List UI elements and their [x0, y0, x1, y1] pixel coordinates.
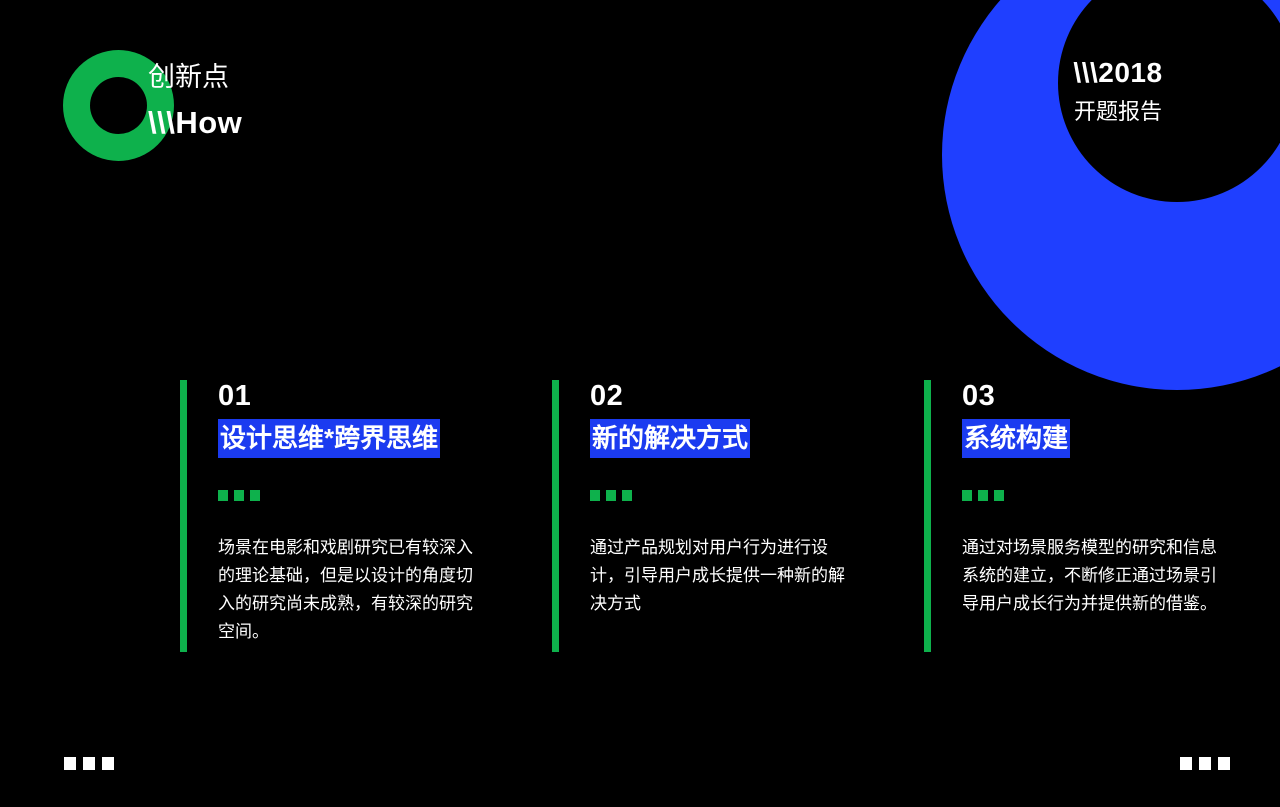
- header-subtitle: 开题报告: [1028, 96, 1208, 128]
- column-body-text: 通过产品规划对用户行为进行设计，引导用户成长提供一种新的解决方式: [590, 534, 858, 618]
- logo-text-block: 创新点 \\\How: [148, 60, 242, 142]
- square-dot-icon: [250, 490, 260, 501]
- bottom-right-dot-group: [1180, 757, 1230, 770]
- square-dot-icon: [978, 490, 988, 501]
- header-year: \\\2018: [1028, 56, 1208, 90]
- column-title-wrap: 设计思维*跨界思维: [218, 419, 440, 458]
- square-dot-icon: [622, 490, 632, 501]
- square-dot-icon: [590, 490, 600, 501]
- column-accent-bar: [552, 380, 559, 652]
- square-dot-icon: [218, 490, 228, 501]
- column-03: 03 系统构建 通过对场景服务模型的研究和信息系统的建立，不断修正通过场景引导用…: [924, 380, 1240, 646]
- logo-title-en: \\\How: [148, 104, 242, 142]
- column-title: 系统构建: [962, 419, 1070, 458]
- column-body-text: 场景在电影和戏剧研究已有较深入的理论基础，但是以设计的角度切入的研究尚未成熟，有…: [218, 534, 486, 646]
- square-dot-icon: [606, 490, 616, 501]
- square-dot-icon: [1180, 757, 1192, 770]
- square-dot-icon: [102, 757, 114, 770]
- square-dot-icon: [64, 757, 76, 770]
- header-block: \\\2018 开题报告: [1028, 56, 1208, 128]
- column-dot-group: [218, 490, 552, 501]
- logo-title-cn: 创新点: [148, 60, 242, 94]
- square-dot-icon: [234, 490, 244, 501]
- green-donut-hole: [90, 77, 147, 134]
- columns-container: 01 设计思维*跨界思维 场景在电影和戏剧研究已有较深入的理论基础，但是以设计的…: [180, 380, 1240, 646]
- column-dot-group: [590, 490, 924, 501]
- column-title-wrap: 系统构建: [962, 419, 1070, 458]
- column-accent-bar: [924, 380, 931, 652]
- column-body-text: 通过对场景服务模型的研究和信息系统的建立，不断修正通过场景引导用户成长行为并提供…: [962, 534, 1230, 618]
- column-number: 01: [218, 380, 552, 412]
- column-number: 02: [590, 380, 924, 412]
- square-dot-icon: [962, 490, 972, 501]
- column-01: 01 设计思维*跨界思维 场景在电影和戏剧研究已有较深入的理论基础，但是以设计的…: [180, 380, 552, 646]
- column-title: 新的解决方式: [590, 419, 750, 458]
- column-title: 设计思维*跨界思维: [218, 419, 440, 458]
- square-dot-icon: [994, 490, 1004, 501]
- column-number: 03: [962, 380, 1240, 412]
- column-dot-group: [962, 490, 1240, 501]
- square-dot-icon: [1218, 757, 1230, 770]
- column-title-wrap: 新的解决方式: [590, 419, 750, 458]
- slide-canvas: \\\2018 开题报告 创新点 \\\How 01 设计思维*跨界思维 场景在…: [0, 0, 1280, 807]
- column-02: 02 新的解决方式 通过产品规划对用户行为进行设计，引导用户成长提供一种新的解决…: [552, 380, 924, 646]
- square-dot-icon: [1199, 757, 1211, 770]
- bottom-left-dot-group: [64, 757, 114, 770]
- column-accent-bar: [180, 380, 187, 652]
- square-dot-icon: [83, 757, 95, 770]
